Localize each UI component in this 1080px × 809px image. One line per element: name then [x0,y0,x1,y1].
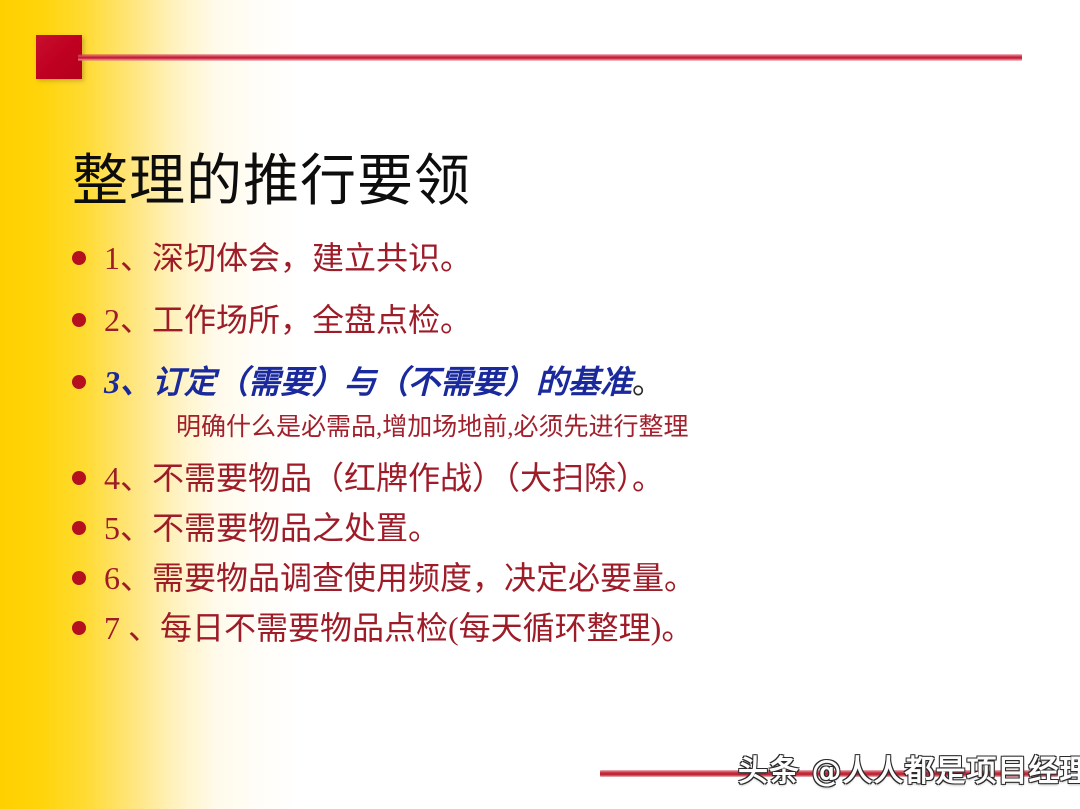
list-item: 7 、每日不需要物品点检(每天循环整理)。 [72,607,1032,653]
list-item-label-2: 2、工作场所，全盘点检。 [104,299,1032,341]
list-item-label-5: 5、不需要物品之处置。 [104,507,1032,549]
bullet-dot-icon [72,313,86,327]
bullet-dot-icon [72,375,86,389]
bullet-dot-icon [72,621,86,635]
bullet-dot-icon [72,521,86,535]
header-accent-square [36,35,82,79]
list-item-label-1: 1、深切体会，建立共识。 [104,237,1032,279]
list-item: 4、不需要物品（红牌作战）（大扫除）。 [72,457,1032,503]
list-item: 1、深切体会，建立共识。 [72,237,1032,283]
watermark-text: 头条 @人人都是项目经理 [738,752,1080,792]
list-item-label-3-period: 。 [632,364,664,400]
list-item-label-7: 7 、每日不需要物品点检(每天循环整理)。 [104,607,1032,649]
slide-canvas: 整理的推行要领 1、深切体会，建立共识。 2、工作场所，全盘点检。 3、订定（需… [0,0,1080,809]
list-item-label-6: 6、需要物品调查使用频度，决定必要量。 [104,557,1032,599]
page-title: 整理的推行要领 [72,150,471,214]
sub-note-text: 明确什么是必需品,增加场地前,必须先进行整理 [72,409,1032,447]
list-item-label-4: 4、不需要物品（红牌作战）（大扫除）。 [104,457,1032,499]
bullet-dot-icon [72,471,86,485]
bullet-list: 1、深切体会，建立共识。 2、工作场所，全盘点检。 3、订定（需要）与（不需要）… [72,237,1032,653]
list-item: 6、需要物品调查使用频度，决定必要量。 [72,557,1032,603]
list-item: 2、工作场所，全盘点检。 [72,299,1032,345]
list-item-highlighted: 3、订定（需要）与（不需要）的基准。 [72,361,1032,407]
bullet-dot-icon [72,251,86,265]
list-item-label-3-main: 3、订定（需要）与（不需要）的基准 [104,364,632,400]
list-item: 5、不需要物品之处置。 [72,507,1032,553]
bullet-dot-icon [72,571,86,585]
list-item-label-3: 3、订定（需要）与（不需要）的基准。 [104,361,1032,403]
header-divider-rule [78,54,1022,61]
